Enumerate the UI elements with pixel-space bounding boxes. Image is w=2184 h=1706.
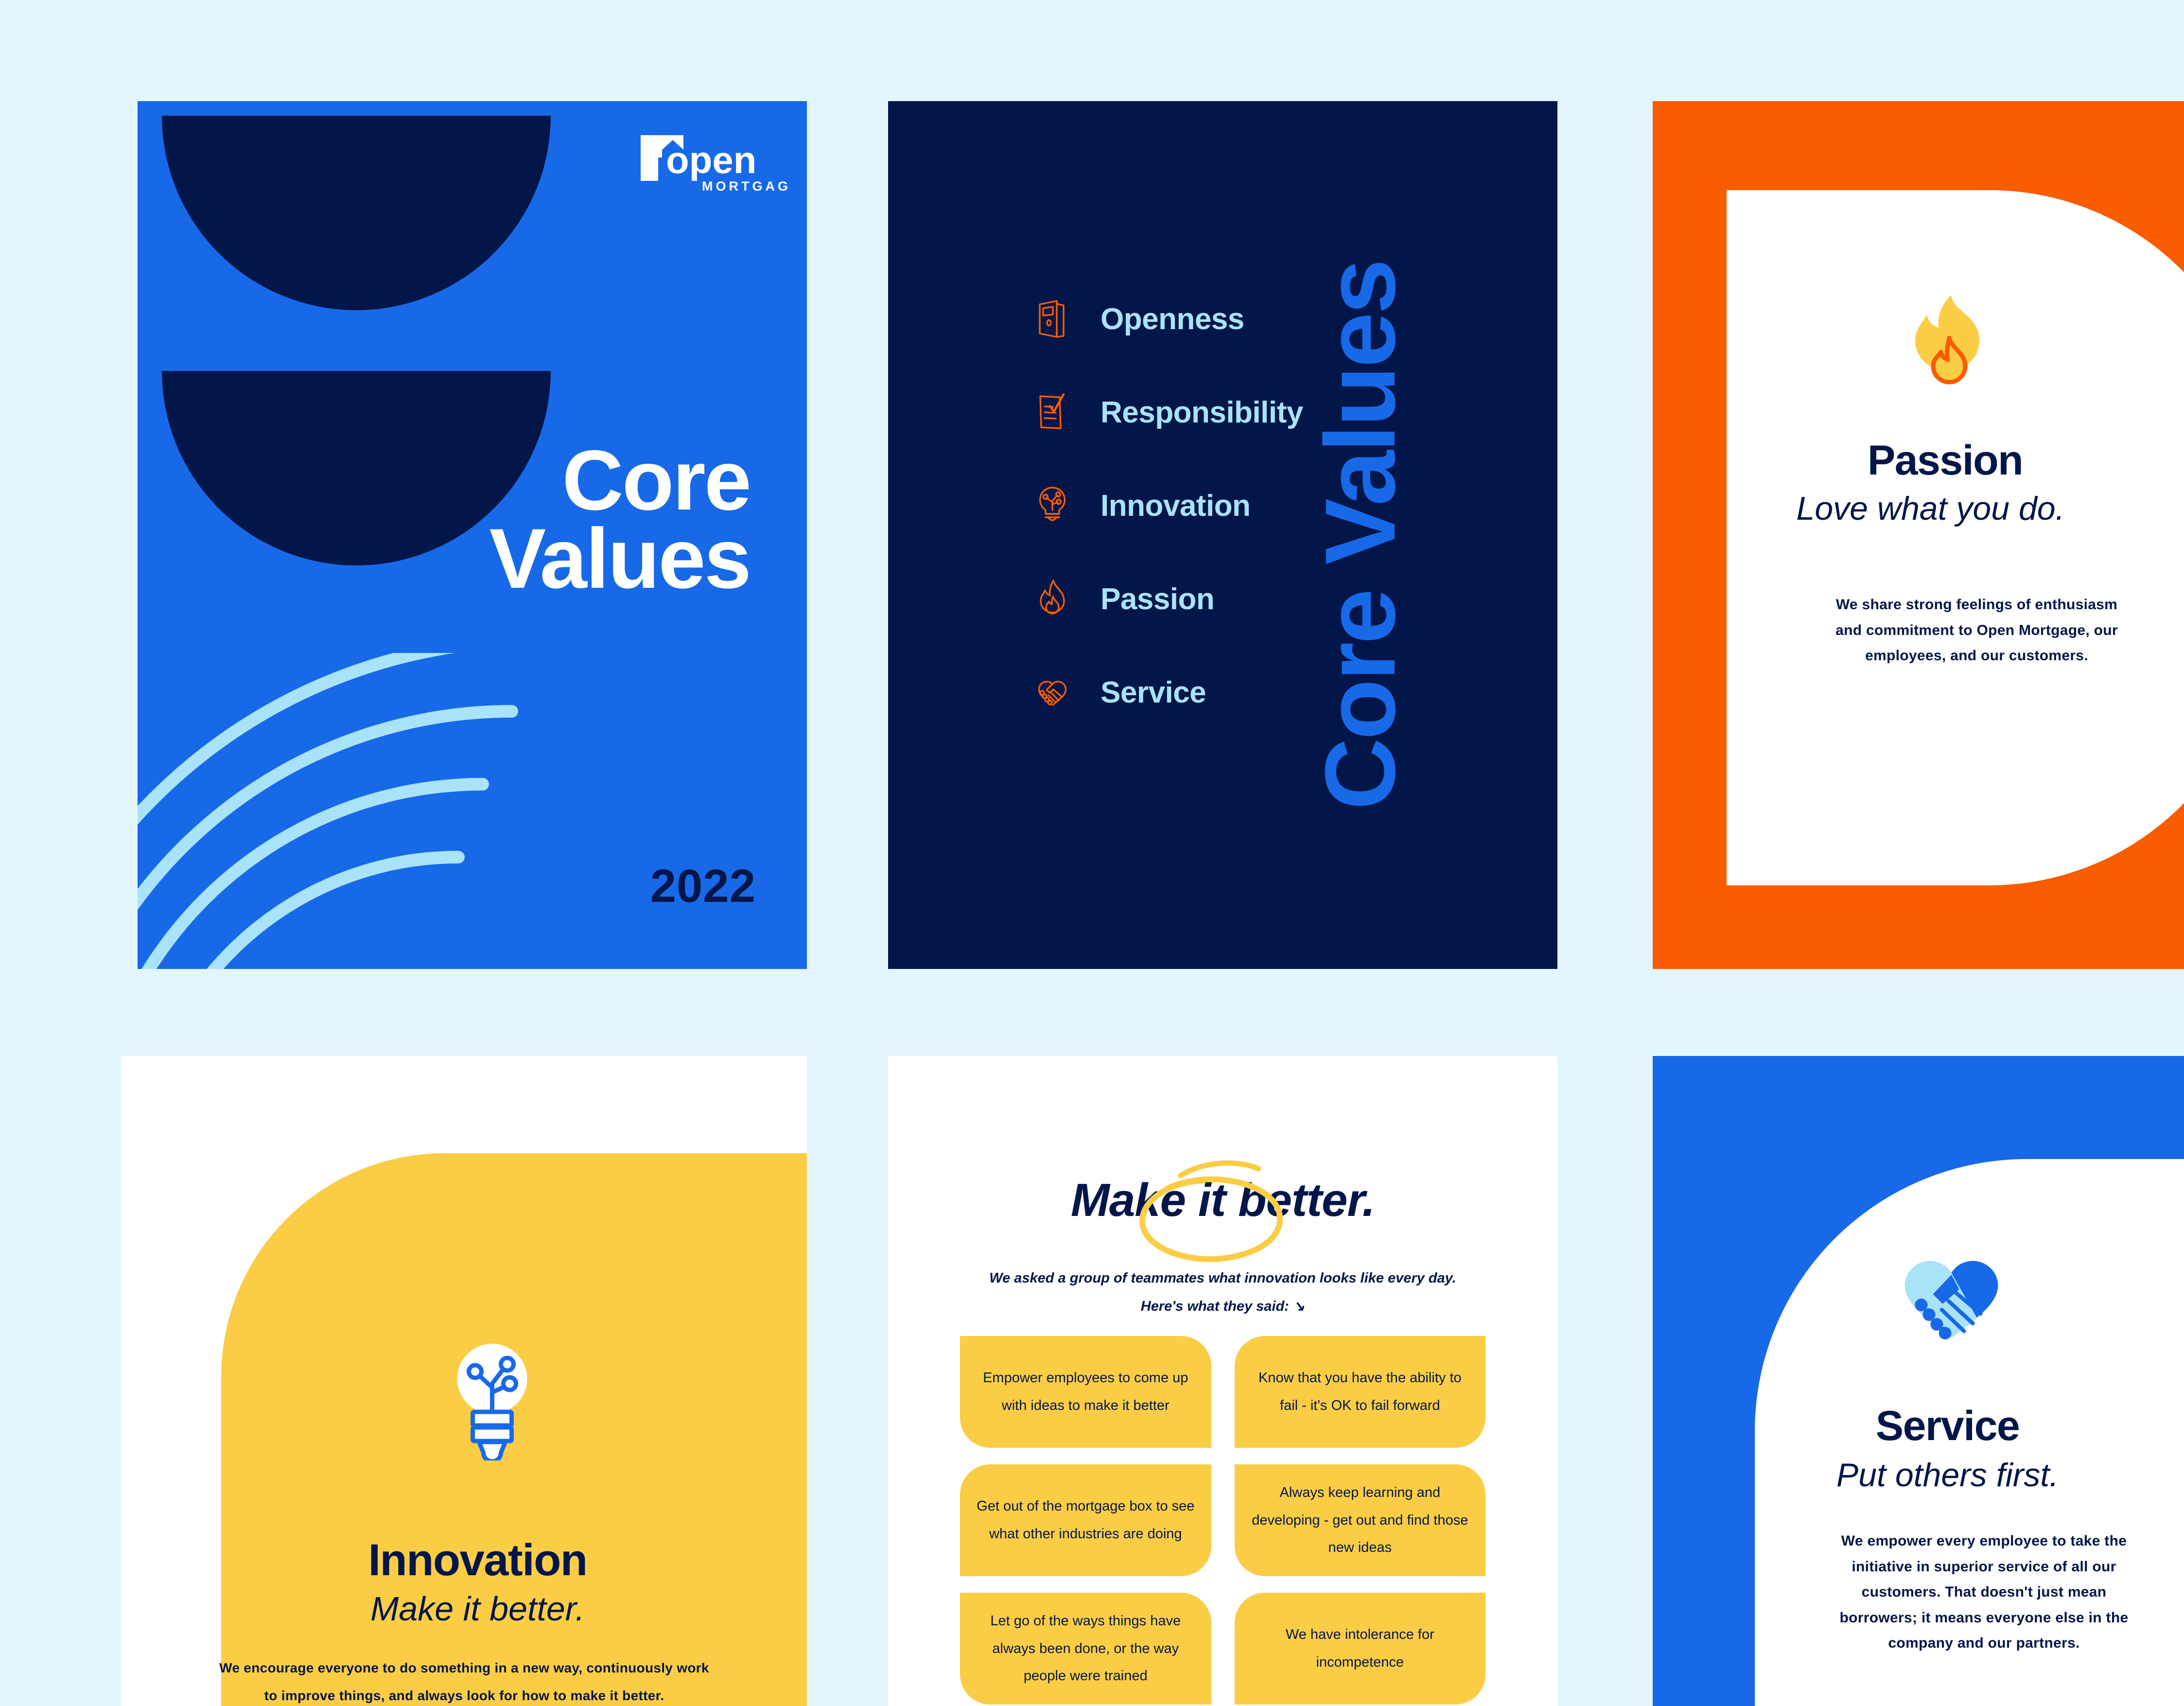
innovation-subtitle: Make it better. (122, 1590, 807, 1628)
quote-card[interactable]: Know that you have the ability to fail -… (1235, 1336, 1486, 1448)
service-panel: Service Put others first. We empower eve… (1653, 1056, 2184, 1706)
passion-description: We share strong feelings of enthusiasm a… (1828, 592, 2126, 669)
quote-card[interactable]: Empower employees to come up with ideas … (960, 1336, 1211, 1448)
list-item-label: Responsibility (1101, 395, 1303, 430)
decorative-half-circle-top (162, 101, 551, 310)
quote-card[interactable]: Let go of the ways things have always be… (960, 1593, 1211, 1705)
passion-content: Passion Love what you do. We share stron… (1653, 101, 2184, 969)
flame-icon (1897, 293, 1999, 395)
open-mortgage-logo: open MORTGAGE (639, 128, 789, 194)
quote-card[interactable]: Always keep learning and developing - ge… (1235, 1464, 1486, 1576)
passion-panel: Passion Love what you do. We share stron… (1653, 101, 2184, 969)
quote-card-grid: Empower employees to come up with ideas … (960, 1336, 1485, 1705)
core-values-board: open MORTGAGE Core Values 2022 Core Valu… (0, 0, 2184, 1706)
innovation-panel: Innovation Make it better. We encourage … (122, 1056, 807, 1706)
circle-scribble-icon (1113, 1152, 1288, 1271)
checklist-icon (1031, 391, 1073, 433)
list-item-label: Passion (1101, 582, 1214, 616)
quote-card[interactable]: We have intolerance for incompetence (1235, 1593, 1486, 1705)
lightbulb-icon (453, 1339, 533, 1463)
lead-line-2: Here's what they said: ↘ (917, 1292, 1528, 1320)
service-title: Service (1653, 1402, 2184, 1450)
lightbulb-icon (1031, 485, 1073, 527)
quote-card[interactable]: Get out of the mortgage box to see what … (960, 1464, 1211, 1576)
flame-icon (1031, 578, 1073, 620)
lead-line-1: We asked a group of teammates what innov… (917, 1264, 1528, 1292)
innovation-content: Innovation Make it better. We encourage … (122, 1056, 807, 1706)
passion-subtitle: Love what you do. (1653, 490, 2184, 527)
list-item[interactable]: Openness (1031, 298, 1303, 340)
innovation-description: We encourage everyone to do something in… (211, 1654, 717, 1706)
decorative-arcs (138, 653, 560, 969)
list-item-label: Openness (1101, 302, 1244, 336)
innovation-title: Innovation (122, 1535, 807, 1586)
service-content: Service Put others first. We empower eve… (1653, 1056, 2184, 1706)
list-item[interactable]: Service (1031, 671, 1303, 713)
logo-subword: MORTGAGE (702, 179, 789, 193)
passion-title: Passion (1653, 437, 2184, 485)
values-list-panel: Core Values Openness (888, 101, 1557, 969)
logo-word: open (666, 139, 756, 181)
values-list: Openness Responsibility (1031, 298, 1303, 713)
cover-title-line2: Values (167, 520, 750, 598)
cover-panel: open MORTGAGE Core Values 2022 (138, 101, 807, 969)
list-item-label: Innovation (1101, 489, 1250, 523)
cover-year: 2022 (650, 860, 756, 913)
list-item[interactable]: Passion (1031, 578, 1303, 620)
vertical-core-values-label: Core Values (1303, 261, 1418, 810)
make-it-better-panel: Make it better. We asked a group of team… (888, 1056, 1557, 1706)
cover-title-line1: Core (167, 441, 750, 520)
page-title: Core Values (167, 441, 789, 598)
door-icon (1031, 298, 1073, 340)
list-item[interactable]: Innovation (1031, 485, 1303, 527)
list-item[interactable]: Responsibility (1031, 391, 1303, 433)
handshake-heart-icon (1031, 671, 1073, 713)
list-item-label: Service (1101, 675, 1206, 710)
handshake-heart-icon (1892, 1250, 2011, 1350)
make-it-better-lead: We asked a group of teammates what innov… (917, 1264, 1528, 1320)
service-description: We empower every employee to take the in… (1837, 1529, 2131, 1656)
service-subtitle: Put others first. (1653, 1457, 2184, 1494)
